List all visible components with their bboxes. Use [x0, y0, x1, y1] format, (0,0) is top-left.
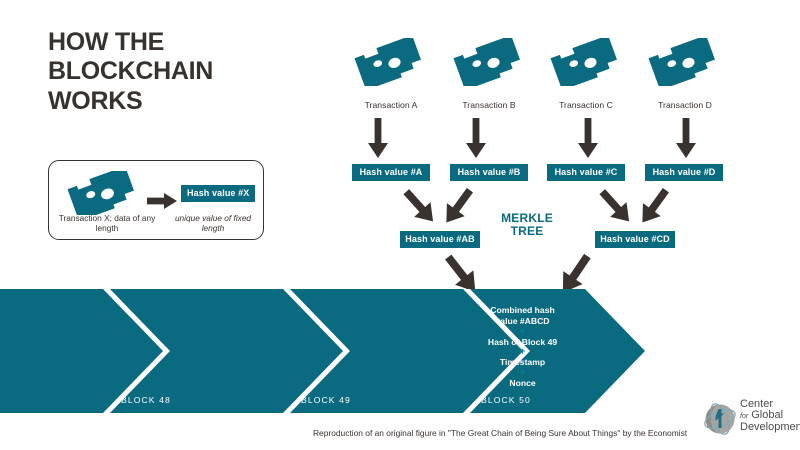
- merkle-label-line-2: TREE: [482, 225, 572, 238]
- globe-icon: [700, 399, 740, 439]
- block-label-48: BLOCK 48: [121, 395, 171, 405]
- logo-line-global: Global: [751, 409, 783, 421]
- right-arrow-icon: [147, 193, 177, 209]
- infographic-canvas: HOW THE BLOCKCHAIN WORKS Hash value #X T…: [0, 0, 800, 450]
- block50-plus-3: +: [455, 368, 590, 378]
- diagonal-arrow-down-left-icon: [434, 186, 480, 230]
- block-label-50: BLOCK 50: [481, 395, 531, 405]
- transaction-label-b: Transaction B: [444, 100, 534, 110]
- hash-value-box-cd: Hash value #CD: [595, 231, 675, 248]
- cgd-logo: Center for Global Development: [700, 399, 798, 445]
- down-arrow-icon: [578, 118, 598, 158]
- title-line-3: WORKS: [48, 87, 308, 116]
- down-arrow-icon: [676, 118, 696, 158]
- transaction-document-icon: [451, 38, 529, 86]
- block50-plus-2: +: [455, 347, 590, 357]
- down-arrow-icon: [466, 118, 486, 158]
- diagonal-arrow-down-left-icon: [630, 186, 676, 230]
- footer-attribution: Reproduction of an original figure in "T…: [313, 428, 687, 438]
- block50-plus-1: +: [455, 327, 590, 337]
- hash-value-box-ab: Hash value #AB: [400, 231, 480, 248]
- page-title: HOW THE BLOCKCHAIN WORKS: [48, 28, 308, 116]
- logo-line-development: Development: [740, 422, 800, 433]
- hash-value-box-a: Hash value #A: [352, 164, 430, 181]
- hash-value-box-c: Hash value #C: [547, 164, 625, 181]
- blockchain-band: [0, 289, 800, 413]
- hash-value-box-b: Hash value #B: [450, 164, 528, 181]
- legend-box: Hash value #X Transaction X; data of any…: [48, 160, 264, 240]
- cgd-logo-text: Center for Global Development: [740, 399, 800, 433]
- merkle-tree-label: MERKLE TREE: [482, 212, 572, 239]
- logo-word-for: for: [740, 413, 748, 420]
- transaction-label-d: Transaction D: [640, 100, 730, 110]
- down-arrow-icon: [368, 118, 388, 158]
- block50-line-5: Nonce: [455, 378, 590, 389]
- block-label-49: BLOCK 49: [301, 395, 351, 405]
- merkle-label-line-1: MERKLE: [482, 212, 572, 225]
- hash-value-box-d: Hash value #D: [645, 164, 723, 181]
- block-50-contents: Combined hash value #ABCD + Hash of Bloc…: [455, 305, 590, 389]
- transaction-document-icon: [65, 171, 143, 215]
- block50-line-1: Combined hash: [455, 305, 590, 316]
- transaction-label-c: Transaction C: [541, 100, 631, 110]
- title-line-1: HOW THE: [48, 28, 308, 57]
- transaction-label-a: Transaction A: [346, 100, 436, 110]
- legend-hash-value-box: Hash value #X: [181, 185, 255, 202]
- transaction-document-icon: [646, 38, 724, 86]
- legend-caption-hash: unique value of fixed length: [167, 213, 259, 234]
- transaction-document-icon: [352, 38, 430, 86]
- transaction-document-icon: [548, 38, 626, 86]
- title-line-2: BLOCKCHAIN: [48, 57, 308, 86]
- legend-caption-transaction: Transaction X; data of any length: [57, 213, 157, 234]
